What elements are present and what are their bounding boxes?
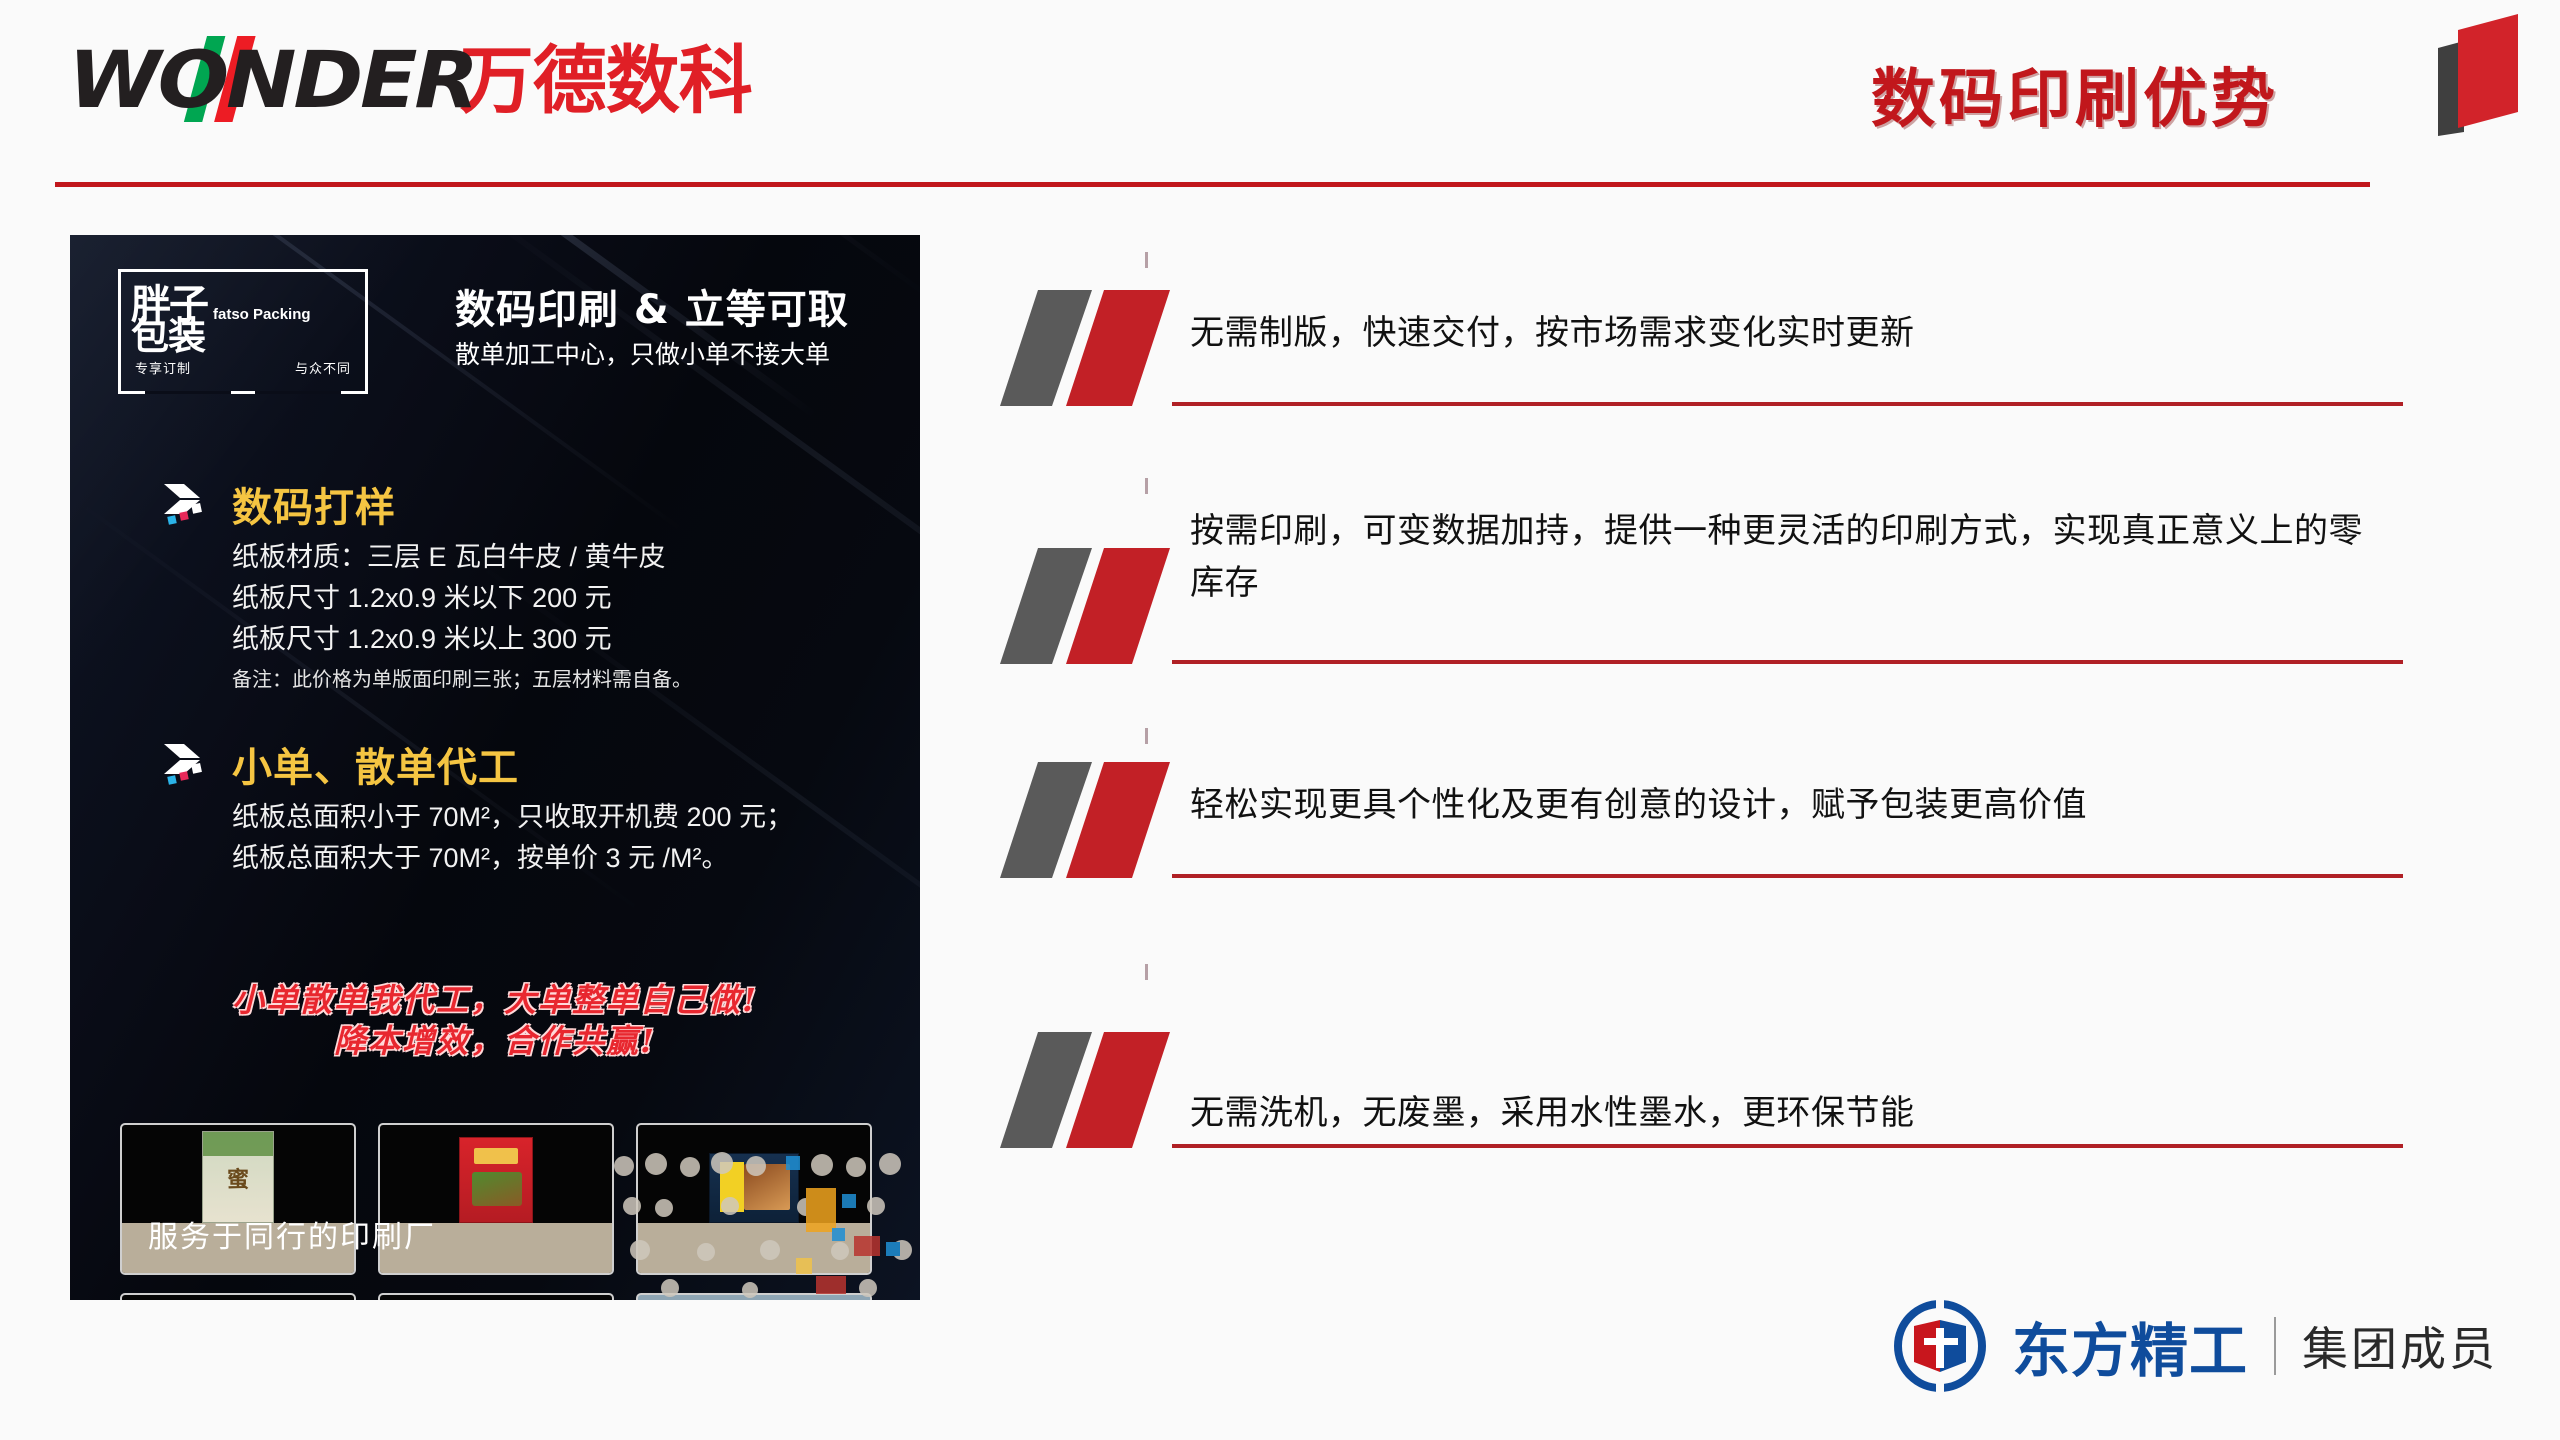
section-line: 纸板总面积小于 70M²，只收取开机费 200 元； bbox=[232, 797, 793, 838]
poster-subtitle: 散单加工中心，只做小单不接大单 bbox=[455, 335, 830, 371]
dot-pattern-decoration bbox=[610, 1150, 920, 1300]
footer-company-name: 东方精工 bbox=[2012, 1304, 2248, 1388]
list-item-underline bbox=[1172, 1144, 2403, 1148]
brand-sub-right: 与众不同 bbox=[295, 358, 351, 377]
slide-footer: 东方精工 集团成员 bbox=[1894, 1300, 2498, 1392]
poster-section-proofing: 数码打样 纸板材质：三层 E 瓦白牛皮 / 黄牛皮 纸板尺寸 1.2x0.9 米… bbox=[162, 475, 692, 692]
section-line: 纸板尺寸 1.2x0.9 米以上 300 元 bbox=[232, 619, 692, 660]
list-item[interactable]: 轻松实现更具个性化及更有创意的设计，赋予包装更高价值 bbox=[1000, 736, 2420, 976]
list-item-text: 无需制版，快速交付，按市场需求变化实时更新 bbox=[1190, 308, 2370, 360]
wonder-wordmark: WONDER bbox=[68, 42, 476, 120]
section-line: 纸板尺寸 1.2x0.9 米以下 200 元 bbox=[232, 578, 692, 619]
bullet-tick-mark bbox=[1145, 478, 1148, 494]
wonder-latin-text: WONDER bbox=[68, 36, 476, 126]
wonder-chinese-name: 万德数科 bbox=[460, 44, 752, 118]
bullet-tick-mark bbox=[1145, 728, 1148, 744]
footer-divider bbox=[2274, 1317, 2276, 1375]
promo-poster: 胖子 fatso Packing 包装 专享订制 与众不同 数码印刷 & 立等可… bbox=[70, 235, 920, 1300]
list-item-underline bbox=[1172, 402, 2403, 406]
section-title: 小单、散单代工 bbox=[232, 735, 519, 793]
dongfang-logo-icon bbox=[1894, 1300, 1986, 1392]
list-item-text: 无需洗机，无废墨，采用水性墨水，更环保节能 bbox=[1190, 1088, 2370, 1140]
list-item-underline bbox=[1172, 874, 2403, 878]
list-item-text: 按需印刷，可变数据加持，提供一种更灵活的印刷方式，实现真正意义上的零库存 bbox=[1190, 506, 2370, 609]
header-divider bbox=[55, 182, 2370, 187]
poster-header: 胖子 fatso Packing 包装 专享订制 与众不同 数码印刷 & 立等可… bbox=[70, 235, 920, 440]
product-photo bbox=[120, 1293, 356, 1300]
corner-ribbon-icon bbox=[2430, 8, 2526, 136]
list-item-underline bbox=[1172, 660, 2403, 664]
brand-sub-left: 专享订制 bbox=[135, 358, 191, 377]
bullet-tick-mark bbox=[1145, 964, 1148, 980]
slogan-line-2: 降本增效，合作共赢! bbox=[70, 1021, 920, 1062]
section-title: 数码打样 bbox=[232, 475, 396, 533]
poster-section-oem: 小单、散单代工 纸板总面积小于 70M²，只收取开机费 200 元； 纸板总面积… bbox=[162, 735, 793, 879]
double-chevron-icon bbox=[162, 742, 218, 786]
advantage-list: 无需制版，快速交付，按市场需求变化实时更新 按需印刷，可变数据加持，提供一种更灵… bbox=[1000, 250, 2420, 1206]
list-item-text: 轻松实现更具个性化及更有创意的设计，赋予包装更高价值 bbox=[1190, 780, 2370, 832]
list-item[interactable]: 无需洗机，无废墨，采用水性墨水，更环保节能 bbox=[1000, 976, 2420, 1206]
section-line: 纸板材质：三层 E 瓦白牛皮 / 黄牛皮 bbox=[232, 537, 692, 578]
section-line: 纸板总面积大于 70M²，按单价 3 元 /M²。 bbox=[232, 838, 793, 879]
list-item[interactable]: 无需制版，快速交付，按市场需求变化实时更新 bbox=[1000, 250, 2420, 478]
bullet-tick-mark bbox=[1145, 252, 1148, 268]
list-item[interactable]: 按需印刷，可变数据加持，提供一种更灵活的印刷方式，实现真正意义上的零库存 bbox=[1000, 478, 2420, 736]
footer-member-label: 集团成员 bbox=[2302, 1313, 2498, 1379]
slogan-line-1: 小单散单我代工，大单整单自己做! bbox=[70, 980, 920, 1021]
brand-pack-text: 包装 bbox=[131, 318, 205, 354]
poster-title: 数码印刷 & 立等可取 bbox=[455, 277, 849, 335]
slide-header: WONDER 万德数科 数码印刷优势 bbox=[0, 0, 2560, 190]
section-note: 备注：此价格为单版面印刷三张；五层材料需自备。 bbox=[232, 663, 692, 692]
double-chevron-icon bbox=[162, 482, 218, 526]
wonder-logo: WONDER 万德数科 bbox=[68, 42, 752, 120]
product-photo bbox=[378, 1293, 614, 1300]
fatso-brand-logo: 胖子 fatso Packing 包装 专享订制 与众不同 bbox=[118, 269, 368, 394]
poster-slogan: 小单散单我代工，大单整单自己做! 降本增效，合作共赢! bbox=[70, 980, 920, 1062]
poster-footer-text: 服务于同行的印刷厂 bbox=[148, 1212, 436, 1256]
page-title: 数码印刷优势 bbox=[1871, 48, 2279, 140]
